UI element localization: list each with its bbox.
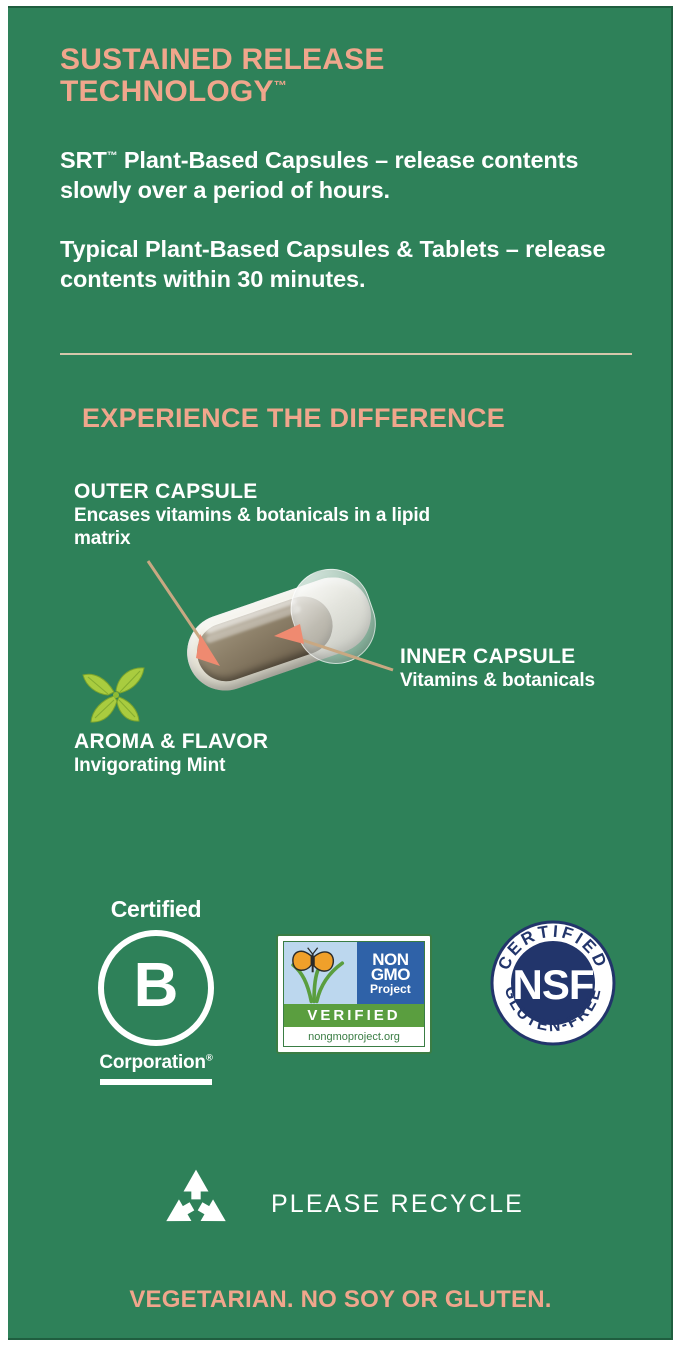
capsule-body (177, 567, 381, 701)
srt-title-line2: TECHNOLOGY (60, 75, 274, 108)
nongmo-project-text: Project (370, 984, 411, 995)
butterfly-and-grass-icon (284, 942, 357, 1004)
inner-capsule-subtitle: Vitamins & botanicals (400, 670, 670, 693)
recycle-row: PLEASE RECYCLE (8, 1158, 673, 1250)
section-divider (60, 353, 632, 355)
outer-capsule-subtitle: Encases vitamins & botanicals in a lipid… (74, 505, 474, 551)
nongmo-butterfly-scene (284, 942, 357, 1004)
product-packaging-panel: SUSTAINED RELEASE TECHNOLOGY™ SRT™ Plant… (0, 0, 679, 1346)
bcorp-circle: B (98, 930, 214, 1046)
aroma-flavor-title: AROMA & FLAVOR (74, 730, 404, 755)
nongmo-url-text: nongmoproject.org (284, 1027, 424, 1046)
srt-paragraph-1-rest: Plant-Based Capsules – release contents … (60, 147, 578, 203)
nsf-gluten-free-badge: CERTIFIED GLUTEN-FREE NSF (490, 920, 616, 1046)
vegetarian-claim: VEGETARIAN. NO SOY OR GLUTEN. (8, 1287, 673, 1313)
aroma-flavor-label: AROMA & FLAVOR Invigorating Mint (74, 730, 404, 778)
bcorp-corporation-text: Corporation® (92, 1053, 220, 1072)
non-gmo-project-badge: NON GMO Project VERIFIED nongmoproject.o… (276, 934, 432, 1054)
nongmo-gmo-text: GMO (371, 967, 410, 983)
mint-leaf-icon (74, 658, 160, 732)
experience-the-difference-heading: EXPERIENCE THE DIFFERENCE (82, 404, 505, 433)
bcorp-certified-text: Certified (92, 898, 220, 921)
srt-paragraph-1-prefix: SRT (60, 147, 107, 173)
nongmo-blue-panel: NON GMO Project (357, 942, 424, 1004)
registered-symbol: ® (206, 1053, 213, 1064)
capsule-illustration (176, 566, 386, 696)
sustained-release-technology-heading: SUSTAINED RELEASE TECHNOLOGY™ (60, 44, 620, 109)
trademark-symbol: ™ (107, 150, 118, 162)
srt-title-line1: SUSTAINED RELEASE (60, 43, 385, 76)
please-recycle-label: PLEASE RECYCLE (271, 1190, 524, 1219)
srt-paragraph-1: SRT™ Plant-Based Capsules – release cont… (60, 146, 620, 206)
bcorp-underline-bar (100, 1079, 212, 1085)
inner-capsule-title: INNER CAPSULE (400, 645, 670, 670)
inner-capsule-label: INNER CAPSULE Vitamins & botanicals (400, 645, 670, 693)
aroma-flavor-subtitle: Invigorating Mint (74, 755, 404, 778)
package-back-panel: SUSTAINED RELEASE TECHNOLOGY™ SRT™ Plant… (8, 6, 673, 1340)
certification-badges: Certified B Corporation® (8, 898, 673, 1088)
bcorp-letter-b: B (134, 955, 179, 1017)
nsf-mark-text: NSF (513, 961, 594, 1008)
srt-paragraph-2: Typical Plant-Based Capsules & Tablets –… (60, 235, 620, 295)
trademark-symbol: ™ (274, 78, 287, 93)
outer-capsule-title: OUTER CAPSULE (74, 480, 474, 505)
b-corporation-badge: Certified B Corporation® (92, 898, 220, 1088)
outer-capsule-label: OUTER CAPSULE Encases vitamins & botanic… (74, 480, 474, 550)
nongmo-inner-frame: NON GMO Project VERIFIED nongmoproject.o… (283, 941, 425, 1047)
nongmo-verified-bar: VERIFIED (284, 1004, 424, 1027)
bcorp-corporation-word: Corporation (99, 1052, 206, 1073)
nongmo-top-row: NON GMO Project (284, 942, 424, 1004)
recycle-icon (157, 1165, 235, 1243)
